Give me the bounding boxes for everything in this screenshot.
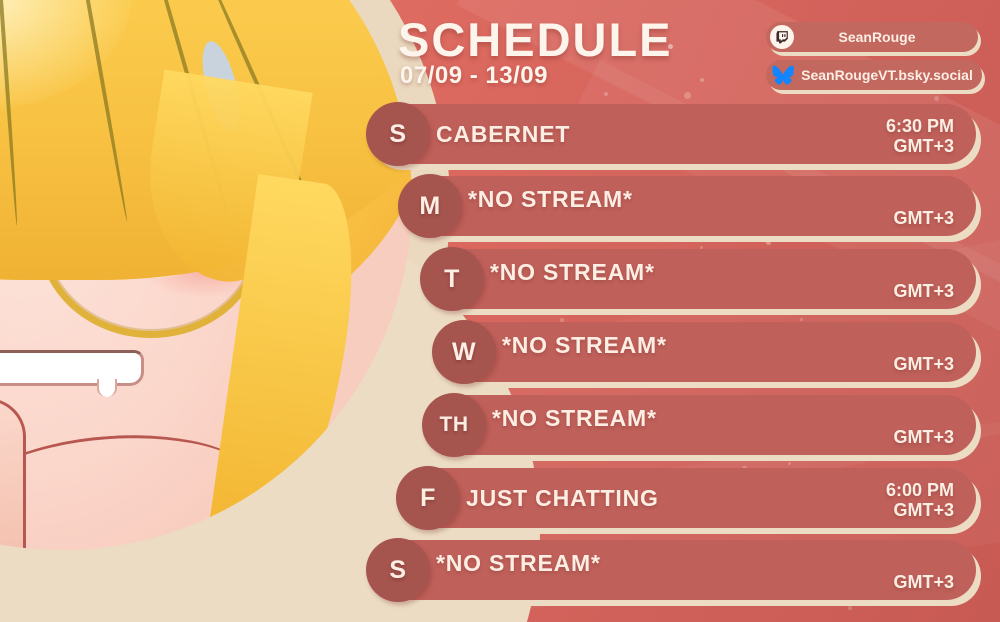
event-title: *NO STREAM* (468, 186, 633, 213)
page-title: SCHEDULE (398, 16, 673, 63)
twitch-icon (770, 25, 794, 49)
event-time: 6:30 PM GMT+3 (886, 116, 954, 156)
social-badge-twitch[interactable]: SeanRouge (766, 22, 978, 52)
event-time: GMT+3 (893, 354, 954, 374)
day-label: S (389, 120, 406, 149)
day-label: T (444, 265, 460, 294)
day-badge: S (366, 102, 430, 166)
timezone-value: GMT+3 (893, 572, 954, 592)
background-dot (604, 92, 608, 96)
event-title: JUST CHATTING (466, 485, 659, 512)
background-dot (800, 318, 803, 321)
day-label: TH (440, 413, 469, 437)
schedule-row[interactable]: W *NO STREAM* GMT+3 (434, 322, 976, 382)
background-dot (684, 92, 691, 99)
schedule-row[interactable]: S *NO STREAM* GMT+3 (368, 540, 976, 600)
time-value: 6:30 PM (886, 116, 954, 136)
event-time: GMT+3 (893, 427, 954, 447)
background-dot (848, 606, 852, 610)
social-badge-bluesky[interactable]: SeanRougeVT.bsky.social (766, 60, 982, 90)
event-title: *NO STREAM* (490, 259, 655, 286)
day-badge: W (432, 320, 496, 384)
day-label: W (452, 338, 476, 367)
mouth (0, 350, 144, 386)
day-badge: TH (422, 393, 486, 457)
event-title: *NO STREAM* (436, 550, 601, 577)
schedule-graphic: SCHEDULE 07/09 - 13/09 SeanRouge SeanRou… (0, 0, 1000, 622)
schedule-row[interactable]: M *NO STREAM* GMT+3 (400, 176, 976, 236)
background-dot (700, 78, 704, 82)
bluesky-handle: SeanRougeVT.bsky.social (796, 67, 982, 83)
event-time: GMT+3 (893, 281, 954, 301)
timezone-value: GMT+3 (886, 136, 954, 156)
day-label: M (419, 192, 440, 221)
timezone-value: GMT+3 (893, 427, 954, 447)
timezone-value: GMT+3 (886, 500, 954, 520)
event-time: GMT+3 (893, 208, 954, 228)
event-title: *NO STREAM* (492, 405, 657, 432)
day-badge: T (420, 247, 484, 311)
schedule-row[interactable]: TH *NO STREAM* GMT+3 (424, 395, 976, 455)
fang-right (97, 379, 117, 397)
event-time: GMT+3 (893, 572, 954, 592)
character-portrait (0, 0, 412, 550)
background-dot (934, 96, 939, 101)
time-value: 6:00 PM (886, 480, 954, 500)
event-title: CABERNET (436, 121, 570, 148)
schedule-row[interactable]: S CABERNET 6:30 PM GMT+3 (368, 104, 976, 164)
twitch-handle: SeanRouge (794, 29, 978, 45)
day-label: S (389, 556, 406, 585)
finger (0, 398, 26, 550)
timezone-value: GMT+3 (893, 208, 954, 228)
background-dot (788, 462, 791, 465)
timezone-value: GMT+3 (893, 354, 954, 374)
day-label: F (420, 484, 436, 513)
date-range: 07/09 - 13/09 (400, 62, 548, 90)
day-badge: S (366, 538, 430, 602)
event-title: *NO STREAM* (502, 332, 667, 359)
day-badge: F (396, 466, 460, 530)
event-time: 6:00 PM GMT+3 (886, 480, 954, 520)
bluesky-butterfly-icon (770, 64, 796, 86)
timezone-value: GMT+3 (893, 281, 954, 301)
schedule-row[interactable]: F JUST CHATTING 6:00 PM GMT+3 (398, 468, 976, 528)
background-dot (766, 240, 771, 245)
day-badge: M (398, 174, 462, 238)
schedule-row[interactable]: T *NO STREAM* GMT+3 (422, 249, 976, 309)
